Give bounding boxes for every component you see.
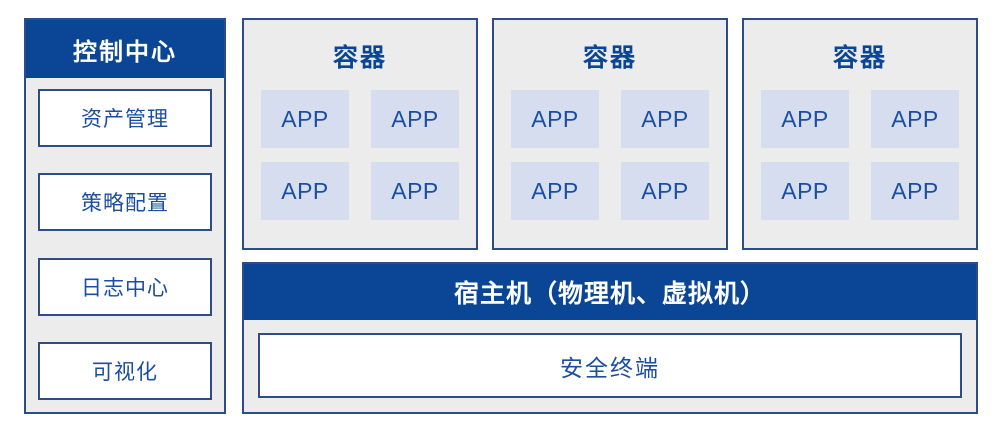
container-title: 容器 [744,38,976,74]
container-title: 容器 [244,38,476,74]
control-center-item-log-center[interactable]: 日志中心 [38,258,212,316]
app-box[interactable]: APP [621,90,709,148]
container-panel: 容器 APP APP APP APP [242,18,478,250]
control-center-item-list: 资产管理 策略配置 日志中心 可视化 [26,78,224,412]
app-box[interactable]: APP [871,162,959,220]
host-machine-banner: 宿主机（物理机、虚拟机） [244,264,976,320]
app-box[interactable]: APP [761,162,849,220]
app-box[interactable]: APP [371,162,459,220]
app-grid: APP APP APP APP [244,90,476,220]
secure-terminal-box[interactable]: 安全终端 [258,333,962,398]
app-box[interactable]: APP [261,90,349,148]
app-box[interactable]: APP [371,90,459,148]
container-panel: 容器 APP APP APP APP [742,18,978,250]
host-machine-body: 安全终端 [244,320,976,412]
architecture-diagram: 控制中心 资产管理 策略配置 日志中心 可视化 容器 APP APP APP A… [0,0,1001,437]
host-machine-panel: 宿主机（物理机、虚拟机） 安全终端 [242,262,978,414]
control-center-item-asset-management[interactable]: 资产管理 [38,89,212,147]
control-center-item-visualization[interactable]: 可视化 [38,342,212,400]
app-box[interactable]: APP [511,162,599,220]
app-box[interactable]: APP [871,90,959,148]
control-center-panel: 控制中心 资产管理 策略配置 日志中心 可视化 [24,18,226,414]
app-box[interactable]: APP [621,162,709,220]
app-grid: APP APP APP APP [494,90,726,220]
app-box[interactable]: APP [261,162,349,220]
container-title: 容器 [494,38,726,74]
app-box[interactable]: APP [511,90,599,148]
control-center-item-policy-config[interactable]: 策略配置 [38,173,212,231]
control-center-header: 控制中心 [26,20,224,78]
app-grid: APP APP APP APP [744,90,976,220]
app-box[interactable]: APP [761,90,849,148]
container-panel: 容器 APP APP APP APP [492,18,728,250]
